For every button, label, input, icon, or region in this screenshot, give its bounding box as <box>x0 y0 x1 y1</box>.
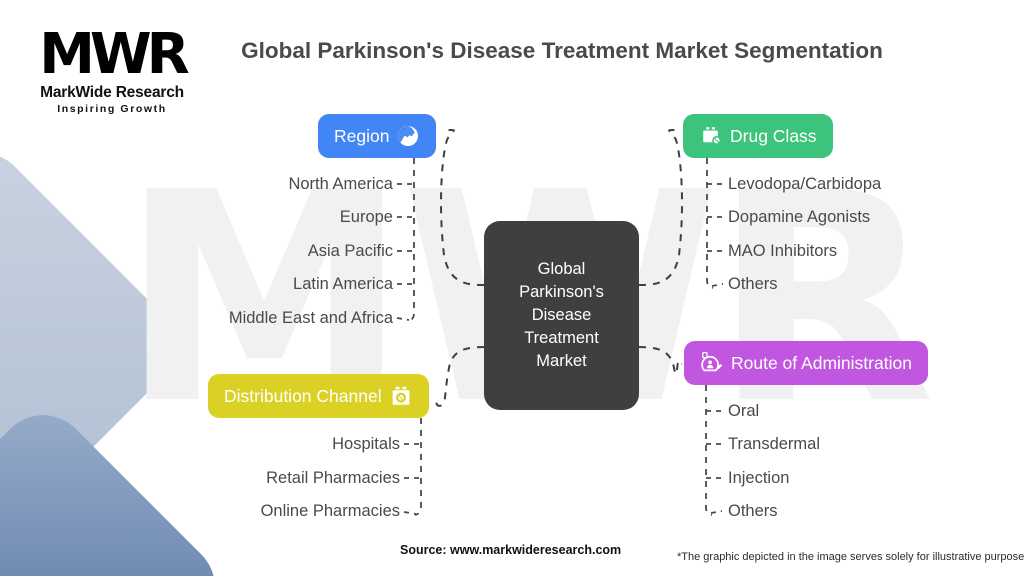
logo-tagline: Inspiring Growth <box>22 103 202 115</box>
sub-item-drug-class-1[interactable]: Dopamine Agonists <box>728 207 1018 227</box>
stub-route-3 <box>711 511 722 513</box>
sub-item-route-3[interactable]: Others <box>728 501 1018 521</box>
medicine-bag-icon <box>699 124 723 148</box>
sub-item-region-2[interactable]: Asia Pacific <box>74 241 393 261</box>
logo-company-name: MarkWide Research <box>22 84 202 102</box>
disclaimer-label: *The graphic depicted in the image serve… <box>677 551 1024 563</box>
branch-node-drug-class[interactable]: Drug Class <box>683 114 833 158</box>
branch-node-drug-class-label: Drug Class <box>730 126 817 147</box>
brand-logo: MWR MarkWide Research Inspiring Growth <box>22 28 202 115</box>
sub-item-region-3[interactable]: Latin America <box>74 274 393 294</box>
stub-region-4 <box>397 318 409 320</box>
sub-item-drug-class-0[interactable]: Levodopa/Carbidopa <box>728 174 1018 194</box>
connector-center-route <box>639 347 682 374</box>
trunk-region <box>408 158 414 321</box>
center-node-label: Global Parkinson's Disease Treatment Mar… <box>519 258 604 373</box>
center-node[interactable]: Global Parkinson's Disease Treatment Mar… <box>484 221 639 410</box>
sub-item-region-4[interactable]: Middle East and Africa <box>74 308 393 328</box>
sub-item-route-2[interactable]: Injection <box>728 468 1018 488</box>
connector-center-drugclass <box>639 130 682 285</box>
stub-drugclass-3 <box>712 284 723 286</box>
branch-node-region[interactable]: Region <box>318 114 436 158</box>
trunk-distribution <box>415 418 421 515</box>
stub-distribution-2 <box>404 512 416 514</box>
branch-node-route-of-administration-label: Route of Administration <box>731 353 912 374</box>
sub-item-route-1[interactable]: Transdermal <box>728 434 1018 454</box>
sub-item-region-1[interactable]: Europe <box>74 207 393 227</box>
connector-center-distribution <box>437 347 484 406</box>
sub-item-drug-class-2[interactable]: MAO Inhibitors <box>728 241 1018 261</box>
source-label: Source: www.markwideresearch.com <box>400 543 621 557</box>
connector-center-region <box>441 130 484 285</box>
sub-item-distribution-channel-0[interactable]: Hospitals <box>80 434 400 454</box>
sub-item-route-0[interactable]: Oral <box>728 401 1018 421</box>
branch-node-route-of-administration[interactable]: Route of Administration <box>684 341 928 385</box>
trunk-drugclass <box>707 158 713 288</box>
branch-node-distribution-channel-label: Distribution Channel <box>224 386 382 407</box>
sub-item-distribution-channel-2[interactable]: Online Pharmacies <box>80 501 400 521</box>
patient-profile-icon <box>700 351 724 375</box>
globe-icon <box>396 124 420 148</box>
branch-node-distribution-channel[interactable]: Distribution Channel <box>208 374 429 418</box>
medicine-box-icon <box>389 384 413 408</box>
infographic-canvas: MWR MWR MarkWide Research Inspiring Grow… <box>0 0 1024 576</box>
sub-item-drug-class-3[interactable]: Others <box>728 274 1018 294</box>
logo-mark: MWR <box>22 28 202 82</box>
branch-node-region-label: Region <box>334 126 389 147</box>
sub-item-distribution-channel-1[interactable]: Retail Pharmacies <box>80 468 400 488</box>
page-title: Global Parkinson's Disease Treatment Mar… <box>212 38 912 64</box>
trunk-route <box>706 385 712 515</box>
sub-item-region-0[interactable]: North America <box>74 174 393 194</box>
